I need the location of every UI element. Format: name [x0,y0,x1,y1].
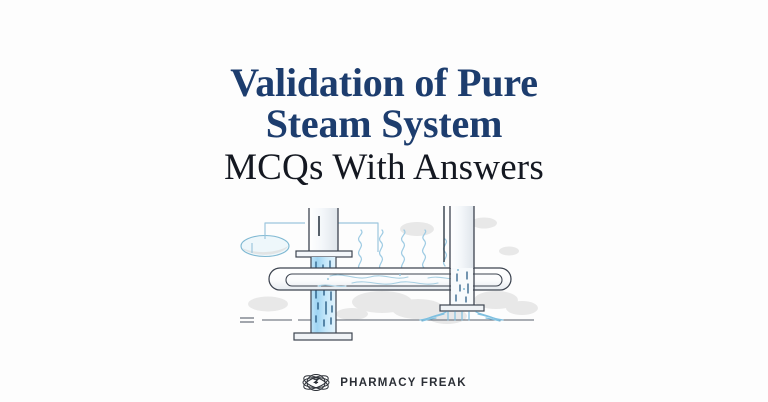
ground-line [240,318,292,322]
page-title: Validation of Pure Steam System MCQs Wit… [0,62,768,190]
steam-system-illustration [232,196,542,348]
brand-name-label: PHARMACY FREAK [340,377,467,389]
atom-icon [301,373,331,392]
horizontal-distribution-pipe [269,268,511,290]
title-line-1: Validation of Pure [70,62,698,103]
title-line-3-subtitle: MCQs With Answers [70,146,698,190]
poster-canvas: Validation of Pure Steam System MCQs Wit… [0,0,768,402]
steam-wisps [359,230,447,270]
title-line-2: Steam System [70,103,698,144]
steam-system-svg [232,196,542,348]
brand-logo: PHARMACY FREAK [0,373,768,392]
